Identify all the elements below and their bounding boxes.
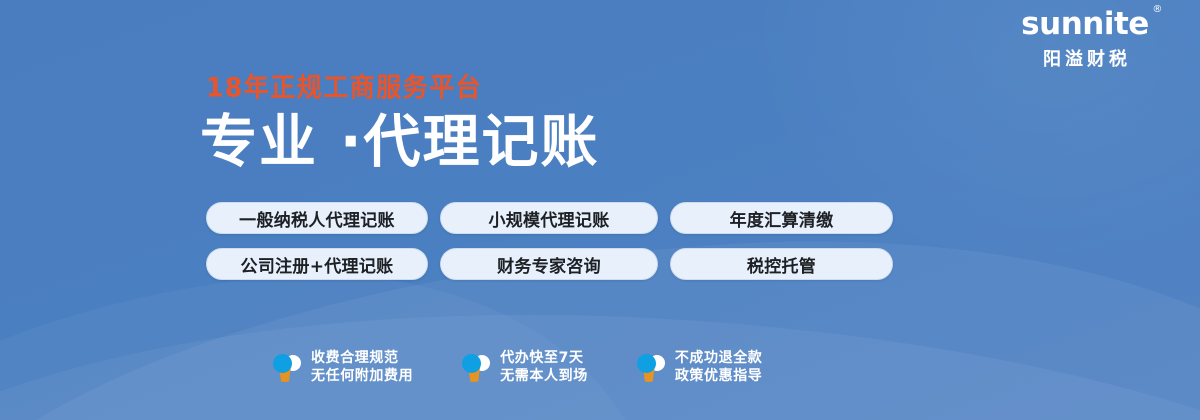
feature-text: 不成功退全款 政策优惠指导 <box>675 350 763 386</box>
feature-line-1: 收费合理规范 <box>311 350 413 368</box>
feature-text: 代办快至7天 无需本人到场 <box>500 350 588 386</box>
service-pill[interactable]: 财务专家咨询 <box>440 248 658 280</box>
service-pill[interactable]: 年度汇算清缴 <box>670 202 893 234</box>
feature-item: 不成功退全款 政策优惠指导 <box>636 350 763 386</box>
hero-kicker: 18年正规工商服务平台 <box>206 74 482 101</box>
hero-headline: 专业 ·代理记账 <box>200 110 600 176</box>
registered-trademark-icon: ® <box>1152 5 1162 15</box>
feature-line-1: 不成功退全款 <box>675 350 763 368</box>
service-pill[interactable]: 小规模代理记账 <box>440 202 658 234</box>
eclipse-badge-icon <box>272 351 302 385</box>
cyan-dot-shape <box>637 354 656 373</box>
feature-line-2: 政策优惠指导 <box>675 368 763 386</box>
feature-line-1: 代办快至7天 <box>500 350 588 368</box>
brand-logo[interactable]: sunnite ® 阳溢财税 <box>992 8 1178 71</box>
service-pill[interactable]: 一般纳税人代理记账 <box>206 202 428 234</box>
service-pill[interactable]: 税控托管 <box>670 248 893 280</box>
cyan-dot-shape <box>273 354 292 373</box>
feature-list: 收费合理规范 无任何附加费用 代办快至7天 无需本人到场 不成功退全款 <box>272 350 762 386</box>
brand-name-cn: 阳溢财税 <box>992 45 1178 71</box>
feature-item: 收费合理规范 无任何附加费用 <box>272 350 413 386</box>
service-pill-grid: 一般纳税人代理记账 小规模代理记账 年度汇算清缴 公司注册+代理记账 财务专家咨… <box>206 202 893 280</box>
cyan-dot-shape <box>462 354 481 373</box>
brand-wordmark-text: sunnite <box>1021 6 1149 42</box>
feature-line-2: 无任何附加费用 <box>311 368 413 386</box>
eclipse-badge-icon <box>636 351 666 385</box>
eclipse-badge-icon <box>461 351 491 385</box>
brand-wordmark: sunnite ® <box>1021 8 1149 41</box>
feature-text: 收费合理规范 无任何附加费用 <box>311 350 413 386</box>
promo-banner: sunnite ® 阳溢财税 18年正规工商服务平台 专业 ·代理记账 一般纳税… <box>0 0 1200 420</box>
feature-line-2: 无需本人到场 <box>500 368 588 386</box>
feature-item: 代办快至7天 无需本人到场 <box>461 350 588 386</box>
service-pill[interactable]: 公司注册+代理记账 <box>206 248 428 280</box>
